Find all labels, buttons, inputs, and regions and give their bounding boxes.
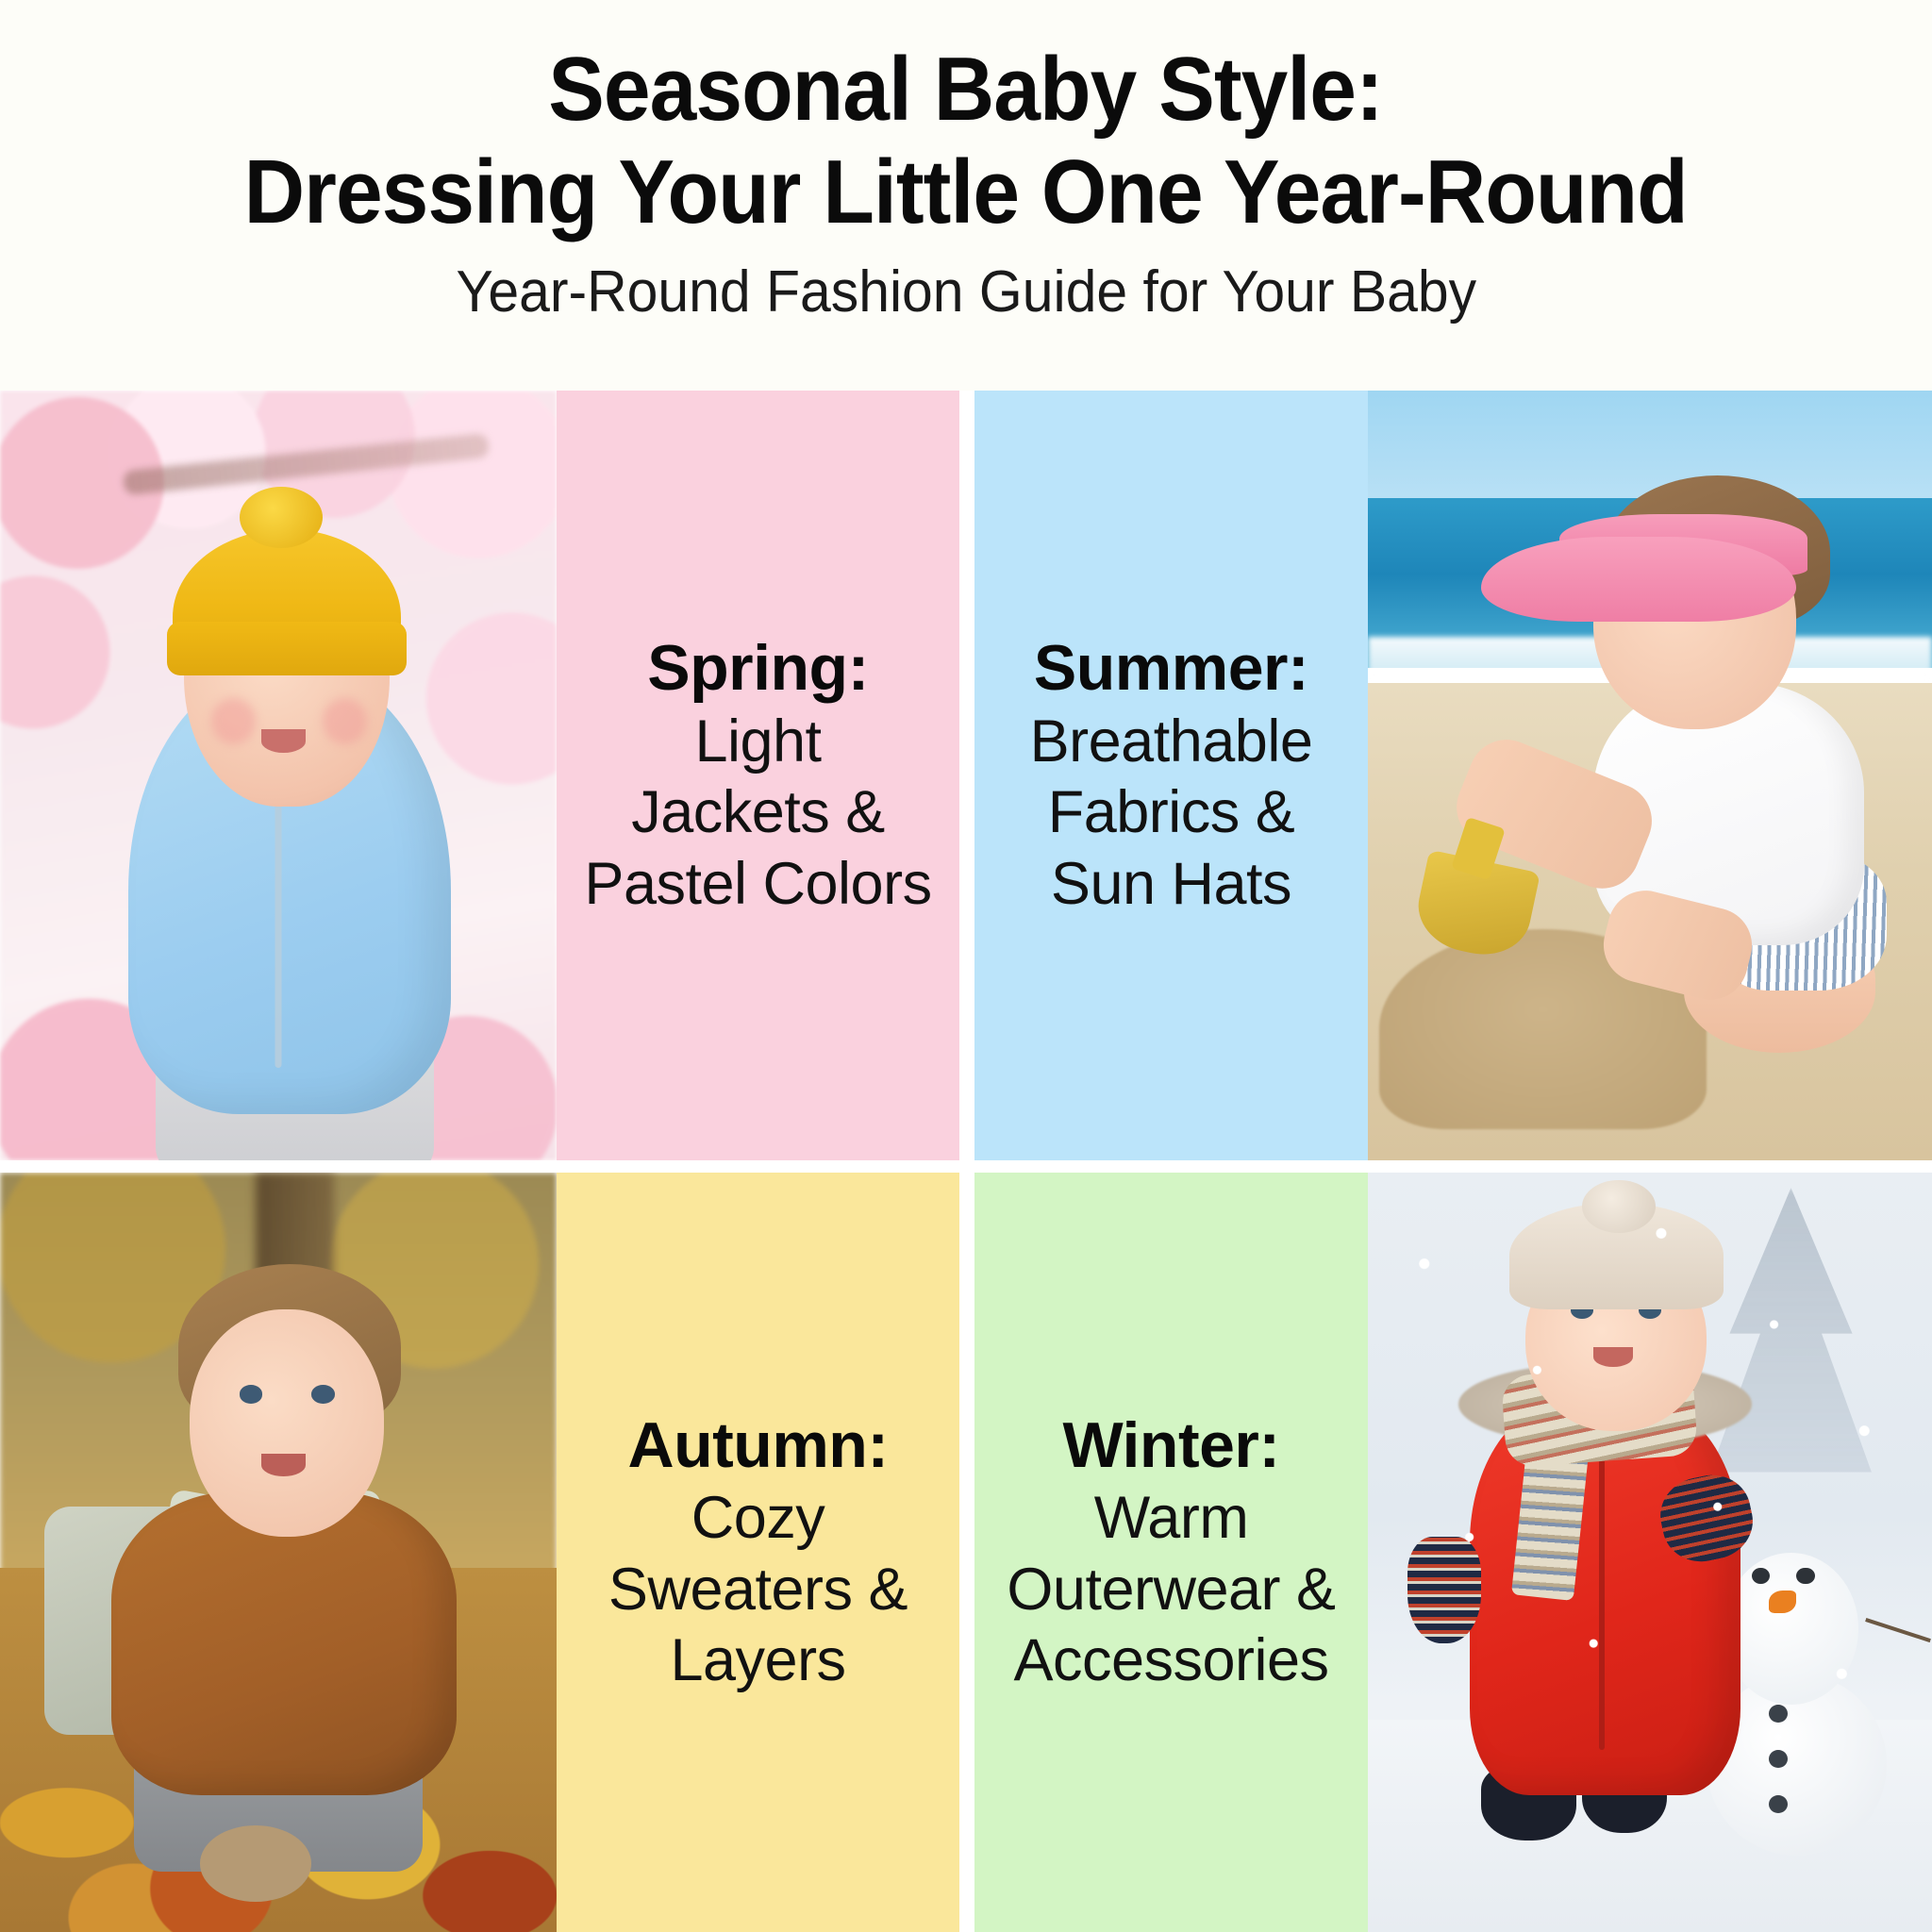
- winter-description-line-3: Accessories: [980, 1625, 1362, 1697]
- summer-photo: [1368, 391, 1932, 1160]
- baby-rust-sweater: [111, 1491, 457, 1795]
- spring-season-label: Spring:: [562, 630, 954, 706]
- spring-photo: [0, 391, 557, 1160]
- winter-text-panel: Winter: Warm Outerwear & Accessories: [974, 1173, 1368, 1932]
- page-title-line-2: Dressing Your Little One Year-Round: [244, 141, 1688, 243]
- winter-description-line-1: Warm: [980, 1483, 1362, 1555]
- seasons-grid: Spring: Light Jackets & Pastel Colors Su…: [0, 391, 1932, 1932]
- summer-season-label: Summer:: [980, 630, 1362, 706]
- summer-description-line-2: Fabrics &: [980, 777, 1362, 849]
- autumn-season-label: Autumn:: [562, 1407, 954, 1483]
- spring-photo-scene: [0, 391, 557, 1160]
- falling-snowflakes: [1368, 1173, 1932, 1932]
- beanie-brim: [167, 622, 407, 675]
- winter-description-line-2: Outerwear &: [980, 1555, 1362, 1626]
- spring-text-panel: Spring: Light Jackets & Pastel Colors: [557, 391, 959, 1160]
- baby-eye-left: [240, 1385, 263, 1403]
- baby-eye-right: [311, 1385, 335, 1403]
- autumn-description-line-3: Layers: [562, 1625, 954, 1697]
- header: Seasonal Baby Style: Dressing Your Littl…: [0, 0, 1932, 391]
- seasonal-baby-style-infographic: Seasonal Baby Style: Dressing Your Littl…: [0, 0, 1932, 1932]
- winter-photo: [1368, 1173, 1932, 1932]
- page-subtitle: Year-Round Fashion Guide for Your Baby: [456, 258, 1476, 327]
- autumn-photo-scene: [0, 1173, 557, 1932]
- beanie-pompom: [240, 487, 324, 548]
- baby-face: [190, 1309, 385, 1538]
- pink-sun-visor: [1481, 537, 1797, 622]
- spring-description-line-1: Light: [562, 707, 954, 778]
- spring-description-line-2: Jackets &: [562, 777, 954, 849]
- summer-description-line-3: Sun Hats: [980, 849, 1362, 921]
- autumn-photo: [0, 1173, 557, 1932]
- page-title-line-1: Seasonal Baby Style:: [549, 38, 1383, 141]
- autumn-description-line-1: Cozy: [562, 1483, 954, 1555]
- summer-description-line-1: Breathable: [980, 707, 1362, 778]
- winter-photo-scene: [1368, 1173, 1932, 1932]
- autumn-text-panel: Autumn: Cozy Sweaters & Layers: [557, 1173, 959, 1932]
- winter-season-label: Winter:: [980, 1407, 1362, 1483]
- autumn-description-line-2: Sweaters &: [562, 1555, 954, 1626]
- summer-text-panel: Summer: Breathable Fabrics & Sun Hats: [974, 391, 1368, 1160]
- spring-description-line-3: Pastel Colors: [562, 849, 954, 921]
- baby-shoe: [200, 1825, 311, 1902]
- summer-photo-scene: [1368, 391, 1932, 1160]
- baby-mouth: [261, 729, 306, 752]
